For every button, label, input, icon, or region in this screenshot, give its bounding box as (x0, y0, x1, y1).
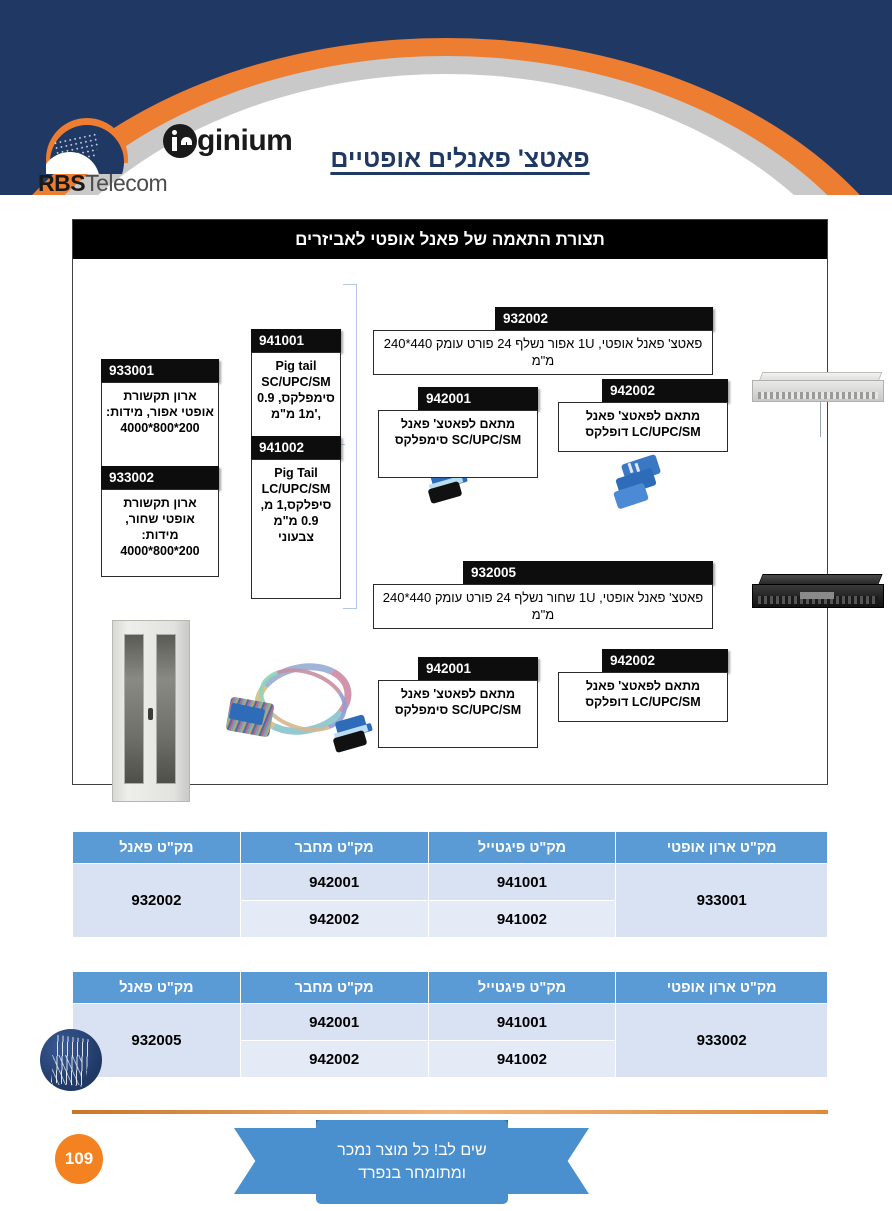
th-panel: מק"ט פאנל (73, 972, 241, 1004)
lc-adapter-photo-top (613, 457, 665, 509)
node-942002-top[interactable]: 942002 מתאם לפאטצ' פאנל LC/UPC/SM דופלקס (558, 379, 728, 452)
node-932002[interactable]: 932002 פאטצ' פאנל אופטי, 1U אפור נשלף 24… (373, 307, 713, 375)
node-933002[interactable]: 933002 ארון תקשורת אופטי שחור, מידות: 20… (101, 466, 219, 577)
td-panel: 932002 (73, 864, 241, 938)
th-pigtail: מק"ט פיגטייל (428, 972, 616, 1004)
inginium-blob-icon (163, 124, 197, 158)
page-number-badge: 109 (55, 1134, 103, 1184)
node-932002-text: פאטצ' פאנל אופטי, 1U אפור נשלף 24 פורט ע… (373, 330, 713, 375)
spec-table-1: מק"ט ארון אופטי מק"ט פיגטייל מק"ט מחבר מ… (72, 831, 828, 938)
td-pigtail: 941001 (428, 864, 616, 901)
node-942002-bottom-code: 942002 (602, 649, 728, 672)
td-connector: 942002 (240, 901, 428, 938)
spec-table-2: מק"ט ארון אופטי מק"ט פיגטייל מק"ט מחבר מ… (72, 971, 828, 1078)
rbs-wordmark: RBSTelecom (38, 170, 167, 197)
node-942002-bottom[interactable]: 942002 מתאם לפאטצ' פאנל LC/UPC/SM דופלקס (558, 649, 728, 722)
sc-adapter-photo-bottom (330, 714, 374, 756)
inginium-wordmark: ginium (197, 124, 292, 157)
td-connector: 942002 (240, 1041, 428, 1078)
inginium-logo: ginium (163, 124, 292, 158)
td-connector: 942001 (240, 1004, 428, 1041)
node-933001-text: ארון תקשורת אופטי אפור, מידות: 200*800*4… (101, 382, 219, 470)
th-connector: מק"ט מחבר (240, 972, 428, 1004)
td-pigtail: 941001 (428, 1004, 616, 1041)
rbs-wordmark-bold: RBS (38, 170, 85, 196)
node-942001-bottom[interactable]: 942001 מתאם לפאטצ' פאנל SC/UPC/SM סימפלק… (378, 657, 538, 748)
node-932005-code: 932005 (463, 561, 713, 584)
th-connector: מק"ט מחבר (240, 832, 428, 864)
node-933002-text: ארון תקשורת אופטי שחור, מידות: 200*800*4… (101, 489, 219, 577)
table-row: 933001 941001 942001 932002 (73, 864, 828, 901)
footer-divider (72, 1110, 828, 1114)
node-942002-top-code: 942002 (602, 379, 728, 402)
node-942002-top-text: מתאם לפאטצ' פאנל LC/UPC/SM דופלקס (558, 402, 728, 452)
table-row: 933002 941001 942001 932005 (73, 1004, 828, 1041)
optical-patch-panel-grey-photo (752, 370, 884, 410)
optical-cabinet-photo (112, 620, 190, 802)
node-942001-top[interactable]: 942001 מתאם לפאטצ' פאנל SC/UPC/SM סימפלק… (378, 387, 538, 478)
node-933001[interactable]: 933001 ארון תקשורת אופטי אפור, מידות: 20… (101, 359, 219, 470)
node-933002-code: 933002 (101, 466, 219, 489)
td-pigtail: 941002 (428, 1041, 616, 1078)
node-942001-top-code: 942001 (418, 387, 538, 410)
td-cabinet: 933001 (616, 864, 828, 938)
footer-ribbon: שים לב! כל מוצר נמכר ומתומחר בנפרד (234, 1128, 589, 1194)
td-pigtail: 941002 (428, 901, 616, 938)
ribbon-text: שים לב! כל מוצר נמכר ומתומחר בנפרד (316, 1120, 508, 1204)
node-942001-bottom-code: 942001 (418, 657, 538, 680)
node-941002[interactable]: 941002 Pig Tail LC/UPC/SM סיפלקס,1 מ, 0.… (251, 436, 341, 599)
node-933001-code: 933001 (101, 359, 219, 382)
table-header-row: מק"ט ארון אופטי מק"ט פיגטייל מק"ט מחבר מ… (73, 972, 828, 1004)
node-942001-top-text: מתאם לפאטצ' פאנל SC/UPC/SM סימפלקס (378, 410, 538, 478)
th-cabinet: מק"ט ארון אופטי (616, 972, 828, 1004)
node-942001-bottom-text: מתאם לפאטצ' פאנל SC/UPC/SM סימפלקס (378, 680, 538, 748)
td-cabinet: 933002 (616, 1004, 828, 1078)
table-header-row: מק"ט ארון אופטי מק"ט פיגטייל מק"ט מחבר מ… (73, 832, 828, 864)
bracket-pigtails (343, 284, 357, 609)
th-cabinet: מק"ט ארון אופטי (616, 832, 828, 864)
td-connector: 942001 (240, 864, 428, 901)
node-932002-code: 932002 (495, 307, 713, 330)
node-942002-bottom-text: מתאם לפאטצ' פאנל LC/UPC/SM דופלקס (558, 672, 728, 722)
node-941002-text: Pig Tail LC/UPC/SM סיפלקס,1 מ, 0.9 מ"מ צ… (251, 459, 341, 599)
optical-patch-panel-black-photo (752, 572, 884, 614)
fiber-strands-circle-icon (40, 1029, 102, 1091)
node-941002-code: 941002 (251, 436, 341, 459)
node-932005[interactable]: 932005 פאטצ' פאנל אופטי, 1U שחור נשלף 24… (373, 561, 713, 629)
node-932005-text: פאטצ' פאנל אופטי, 1U שחור נשלף 24 פורט ע… (373, 584, 713, 629)
diagram-header-title: תצורת התאמה של פאנל אופטי לאביזרים (73, 220, 827, 259)
node-941001-code: 941001 (251, 329, 341, 352)
rbs-globe-icon (46, 118, 128, 174)
th-pigtail: מק"ט פיגטייל (428, 832, 616, 864)
rbs-wordmark-light: Telecom (85, 170, 167, 196)
page-title: פאטצ' פאנלים אופטיים (300, 145, 620, 174)
th-panel: מק"ט פאנל (73, 832, 241, 864)
